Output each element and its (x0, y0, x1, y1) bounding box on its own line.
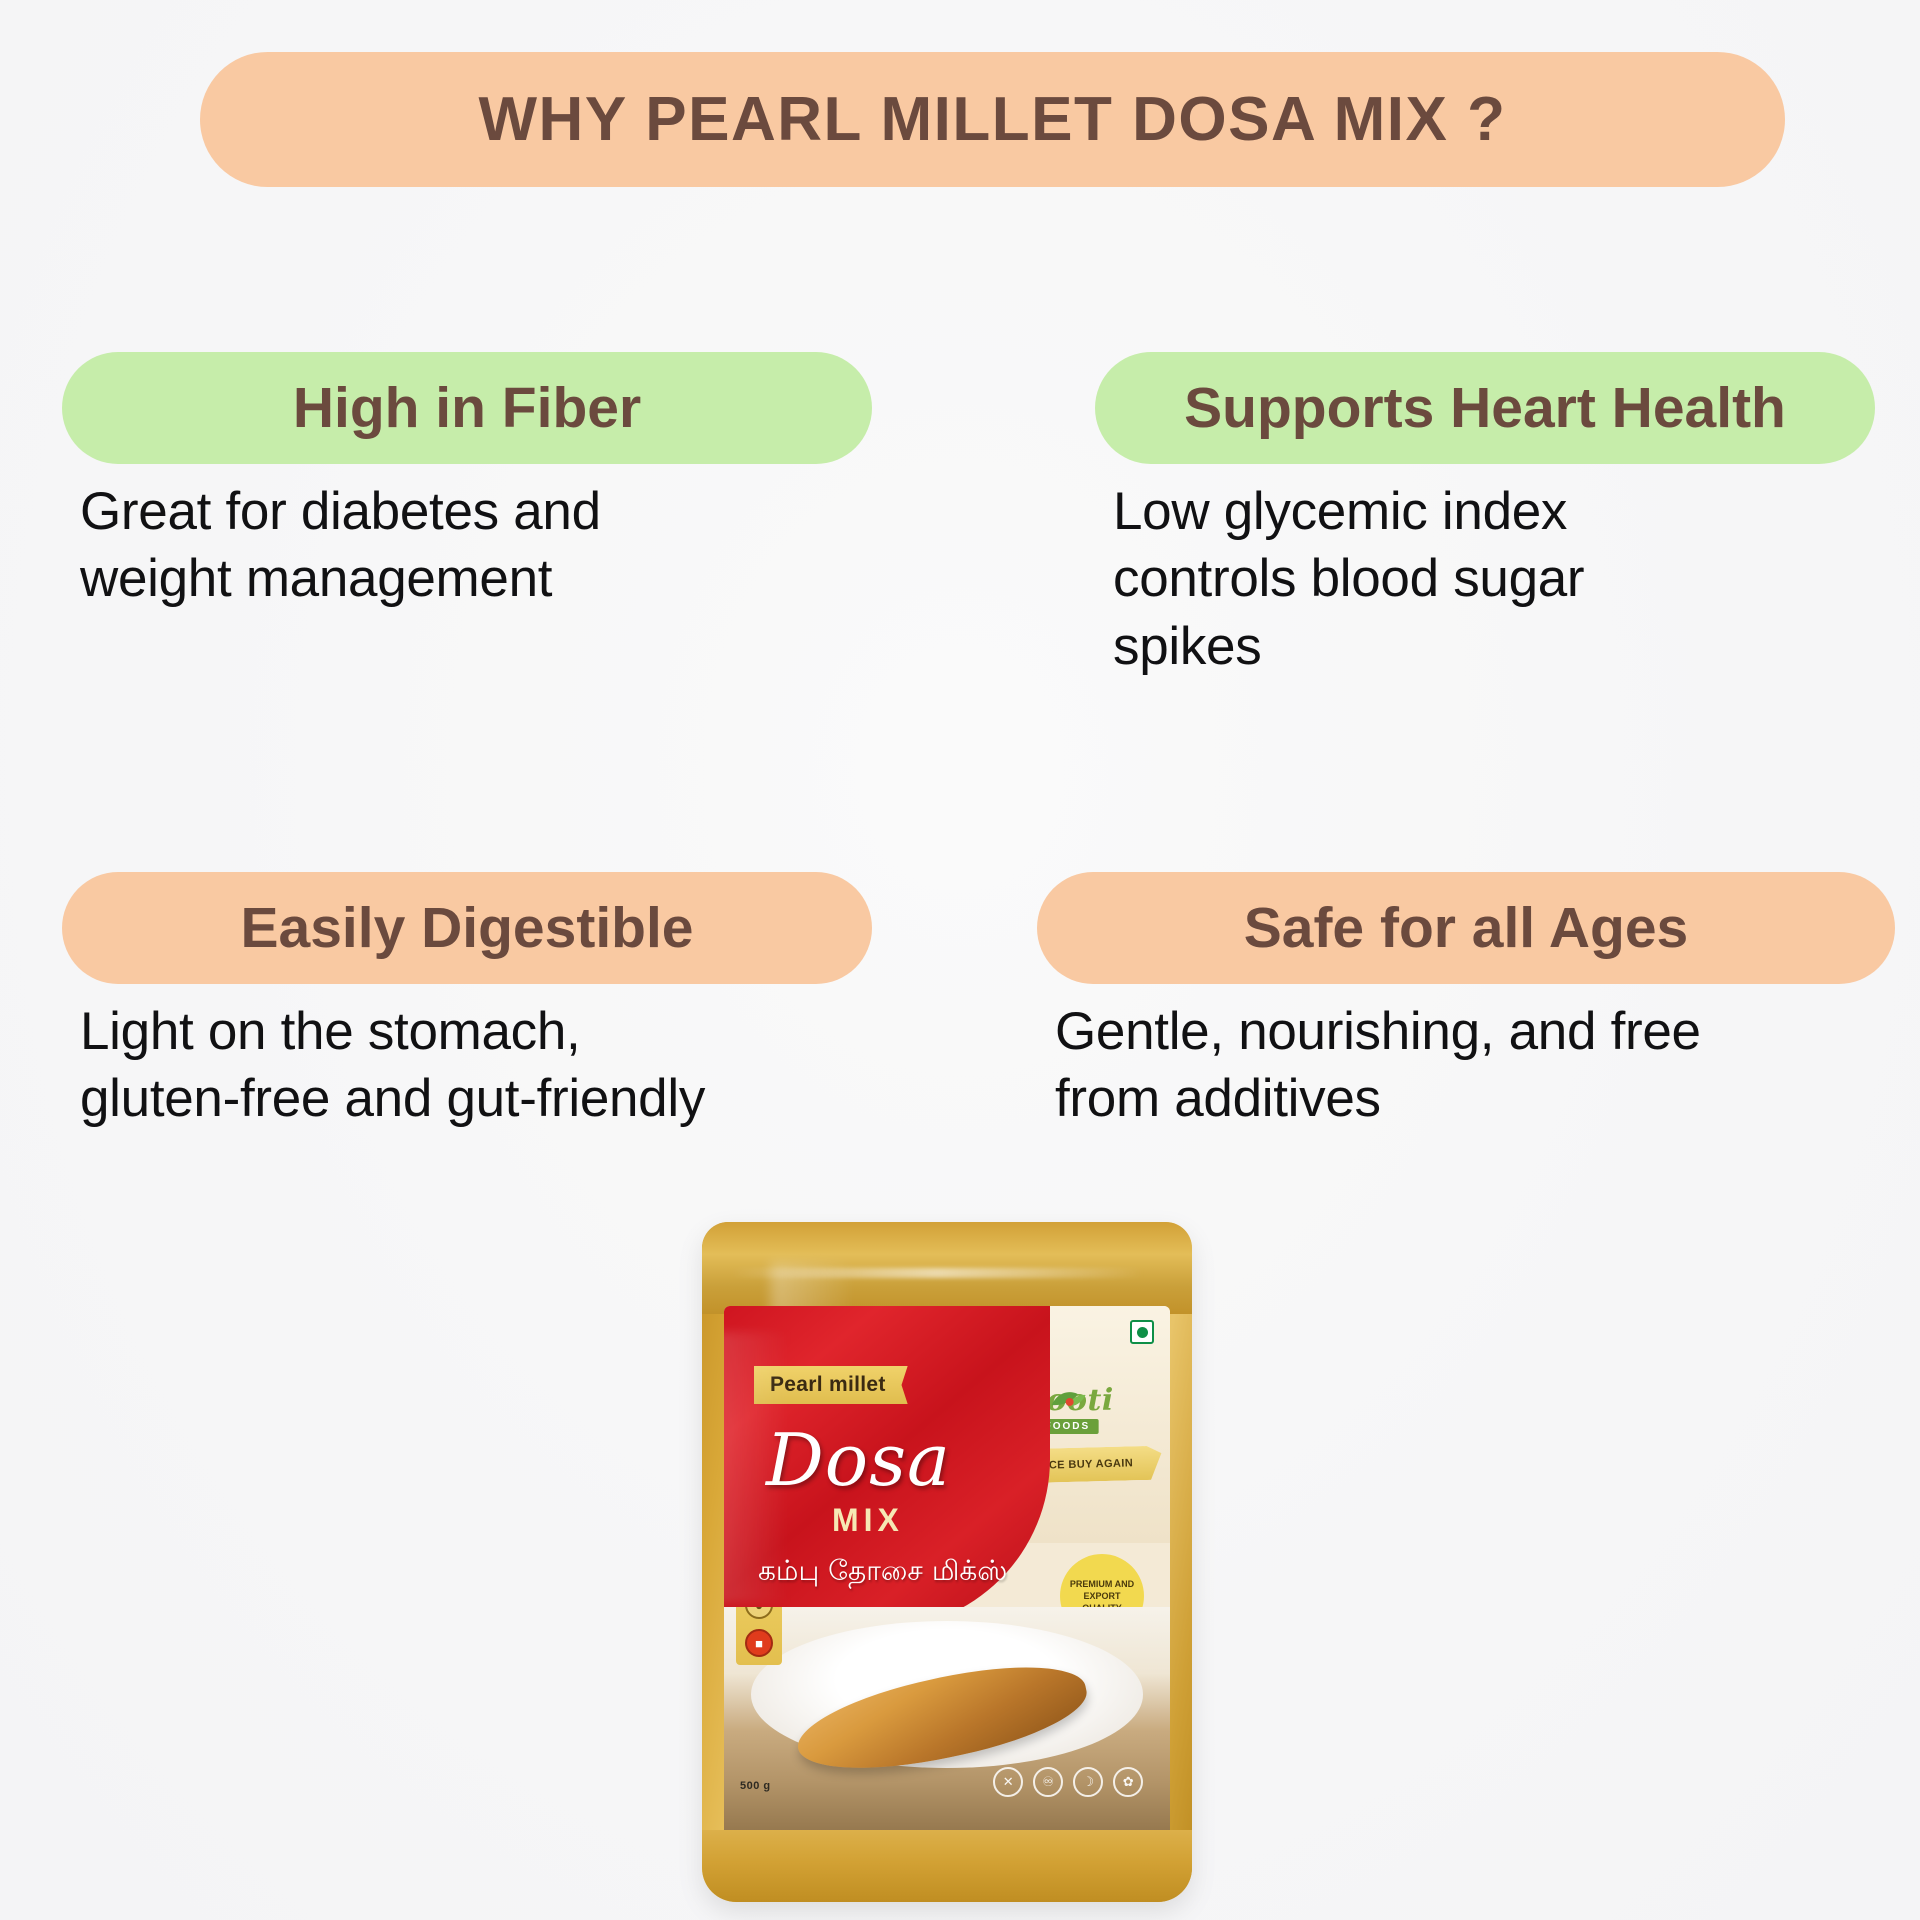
veg-dot (1137, 1327, 1148, 1338)
product-name-tamil: கம்பு தோசை மிக்ஸ் (758, 1554, 1007, 1591)
feature-label: Easily Digestible (240, 900, 693, 957)
product-package-image: Rooti FOODS TRY ONCE BUY AGAIN Pearl mil… (702, 1222, 1192, 1902)
feature-description: Low glycemic index controls blood sugar … (1095, 478, 1735, 680)
pearl-millet-banner: Pearl millet (754, 1366, 908, 1404)
feature-label: High in Fiber (293, 380, 641, 437)
feature-pill-safe-for-all-ages: Safe for all Ages (1037, 872, 1895, 984)
feature-icon-row: ✕ ♾ ☽ ✿ (993, 1767, 1143, 1797)
feature-card-high-in-fiber: High in Fiber Great for diabetes and wei… (62, 352, 882, 613)
net-weight-label: 500 g (740, 1780, 771, 1792)
feature-label: Supports Heart Health (1184, 380, 1786, 437)
plant-icon: ✿ (1113, 1767, 1143, 1797)
pouch-body: Rooti FOODS TRY ONCE BUY AGAIN Pearl mil… (702, 1222, 1192, 1902)
infographic-canvas: WHY PEARL MILLET DOSA MIX ? High in Fibe… (0, 0, 1920, 1920)
feature-card-supports-heart-health: Supports Heart Health Low glycemic index… (1095, 352, 1895, 680)
fssai-icon: ■ (745, 1629, 773, 1657)
product-food-photo: ☺ ● ■ 500 g ✕ ♾ ☽ ✿ (724, 1607, 1170, 1844)
certification-strip: ☺ ● ■ (736, 1607, 782, 1665)
pouch-front-label: Rooti FOODS TRY ONCE BUY AGAIN Pearl mil… (724, 1306, 1170, 1844)
feature-pill-easily-digestible: Easily Digestible (62, 872, 872, 984)
pouch-bottom-seal (702, 1830, 1192, 1902)
feature-card-easily-digestible: Easily Digestible Light on the stomach, … (62, 872, 882, 1133)
grain-icon: ☽ (1073, 1767, 1103, 1797)
label-red-panel: Pearl millet Dosa MIX கம்பு தோசை மிக்ஸ் (724, 1306, 1050, 1629)
product-name-sub: MIX (832, 1502, 904, 1539)
feature-pill-high-in-fiber: High in Fiber (62, 352, 872, 464)
no-preservative-icon: ✕ (993, 1767, 1023, 1797)
feature-description: Great for diabetes and weight management (62, 478, 752, 613)
product-name-script: Dosa (766, 1424, 951, 1496)
leaf-icon (1047, 1388, 1087, 1413)
feature-description: Gentle, nourishing, and free from additi… (1037, 998, 1757, 1133)
page-title: WHY PEARL MILLET DOSA MIX ? (479, 84, 1507, 155)
organic-icon: ● (745, 1607, 773, 1619)
natural-icon: ♾ (1033, 1767, 1063, 1797)
feature-card-safe-for-all-ages: Safe for all Ages Gentle, nourishing, an… (1037, 872, 1897, 1133)
feature-description: Light on the stomach, gluten-free and gu… (62, 998, 722, 1133)
feature-label: Safe for all Ages (1244, 900, 1689, 957)
page-title-pill: WHY PEARL MILLET DOSA MIX ? (200, 52, 1785, 187)
feature-pill-supports-heart-health: Supports Heart Health (1095, 352, 1875, 464)
vegetarian-mark-icon (1130, 1320, 1154, 1344)
